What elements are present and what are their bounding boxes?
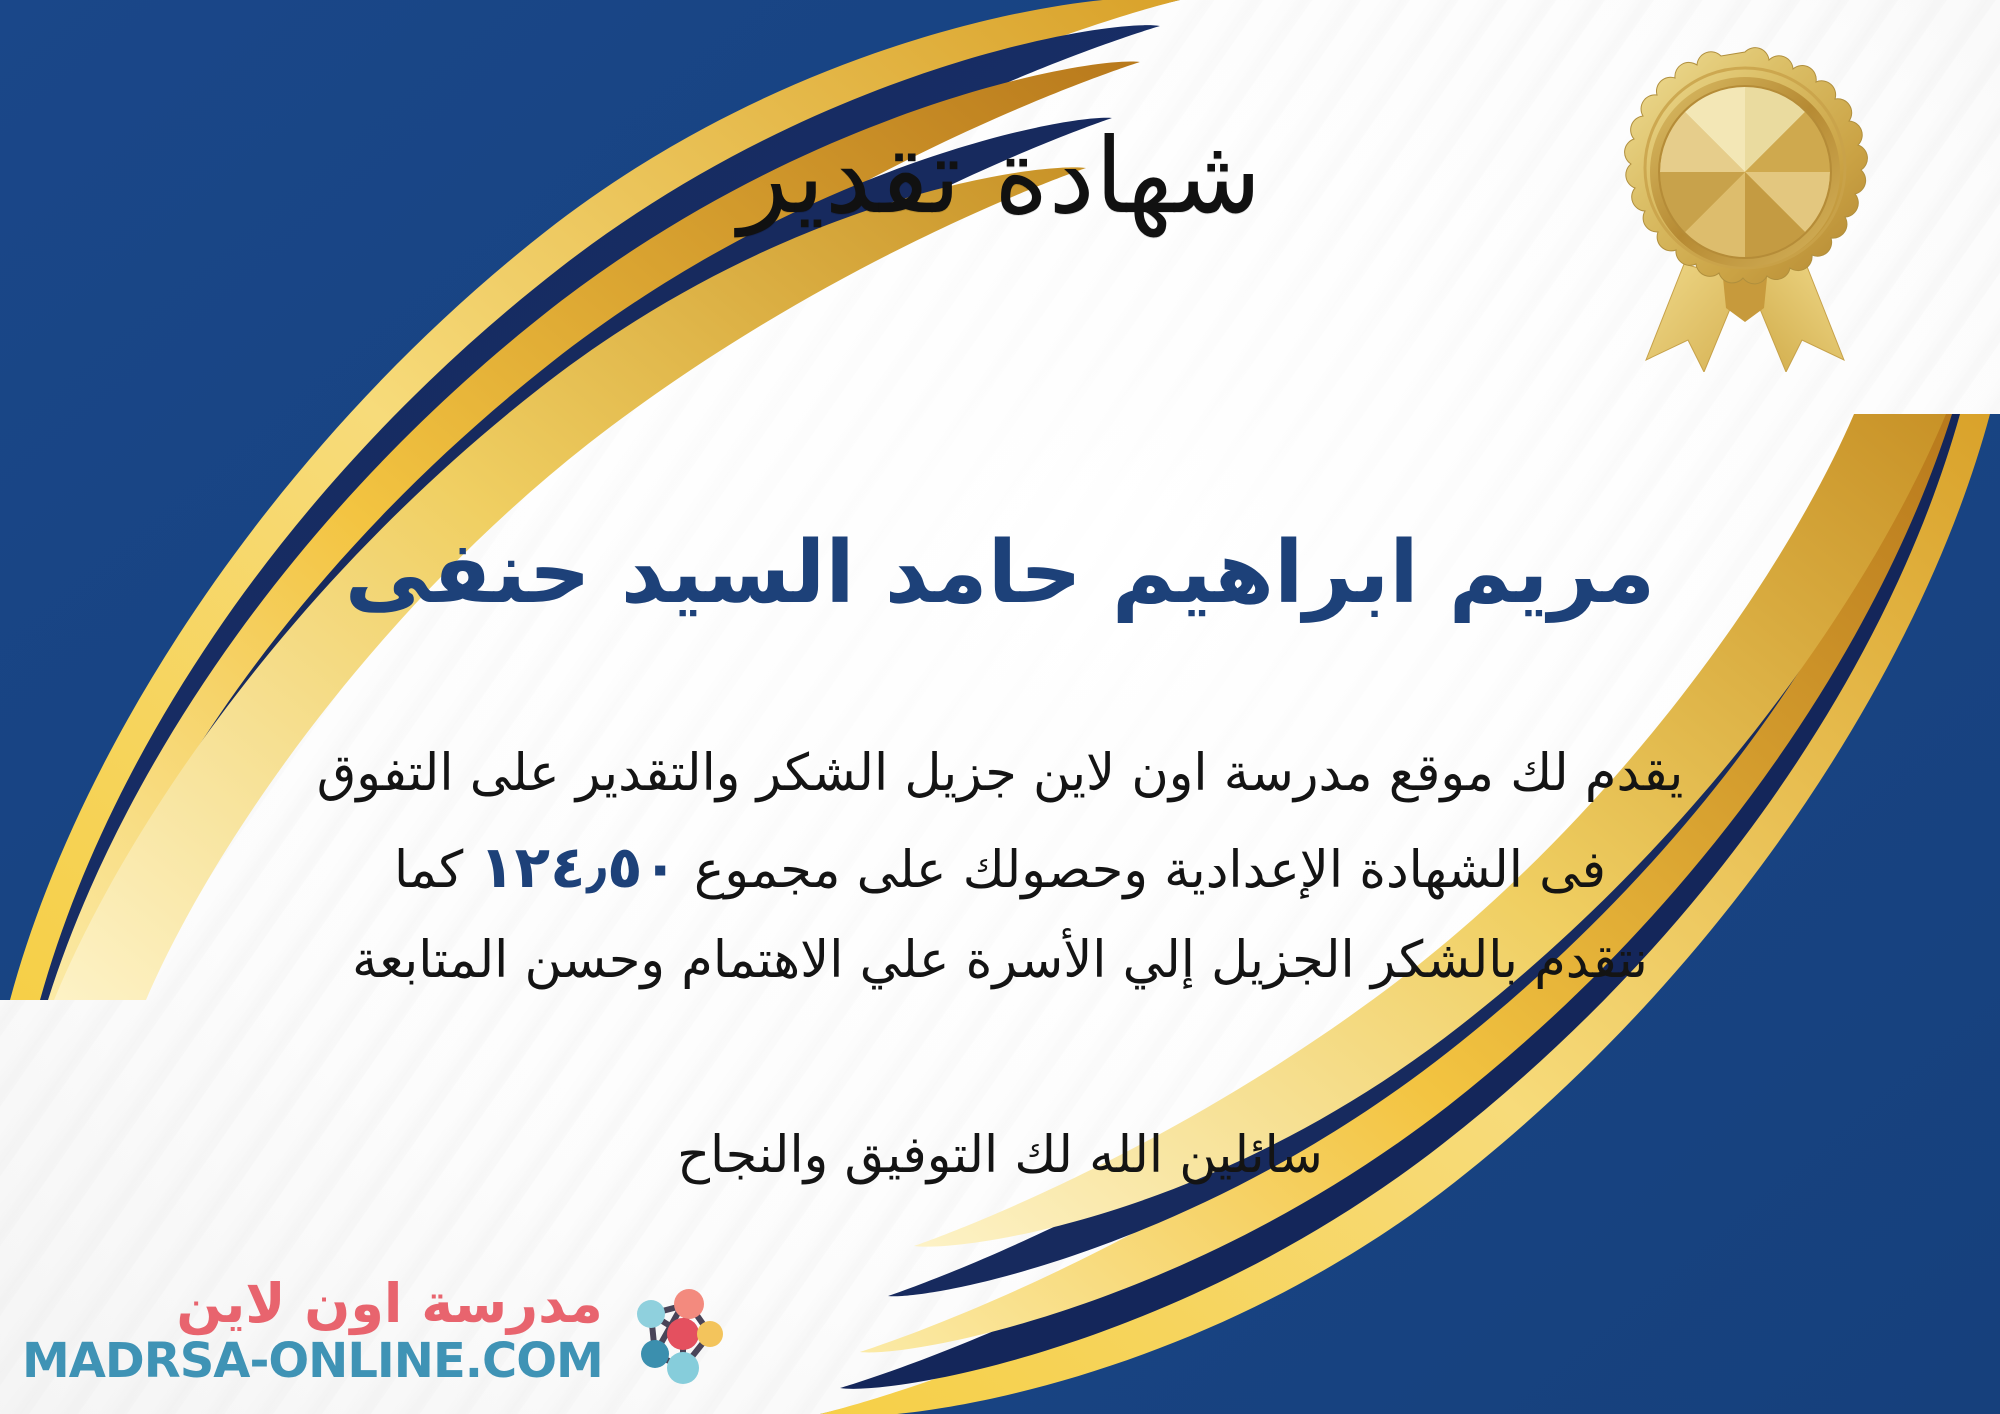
certificate-body: يقدم لك موقع مدرسة اون لاين جزيل الشكر و… — [80, 730, 1920, 1005]
brand-text: مدرسة اون لاين MADRSA-ONLINE.COM — [22, 1277, 603, 1385]
certificate-canvas: شهادة تقدير مريم ابراهيم حامد السيد حنفى… — [0, 0, 2000, 1414]
body-line-2: فى الشهادة الإعدادية وحصولك على مجموع١٢٤… — [80, 818, 1920, 918]
closing-line: سائلين الله لك التوفيق والنجاح — [0, 1120, 2000, 1191]
body-line-2-prefix: فى الشهادة الإعدادية وحصولك على مجموع — [694, 841, 1606, 900]
brand-name-arabic: مدرسة اون لاين — [176, 1277, 602, 1331]
network-nodes-icon — [613, 1272, 731, 1390]
gold-award-seal-icon — [1600, 42, 1890, 372]
recipient-name: مريم ابراهيم حامد السيد حنفى — [0, 525, 2000, 621]
brand-domain: MADRSA-ONLINE.COM — [22, 1337, 603, 1385]
body-line-1: يقدم لك موقع مدرسة اون لاين جزيل الشكر و… — [80, 730, 1920, 818]
body-line-2-suffix: كما — [394, 841, 463, 900]
grade-total-value: ١٢٤٫٥٠ — [463, 833, 694, 901]
brand-logo[interactable]: مدرسة اون لاين MADRSA-ONLINE.COM — [22, 1272, 731, 1390]
body-line-3: نتقدم بالشكر الجزيل إلي الأسرة علي الاهت… — [80, 917, 1920, 1005]
